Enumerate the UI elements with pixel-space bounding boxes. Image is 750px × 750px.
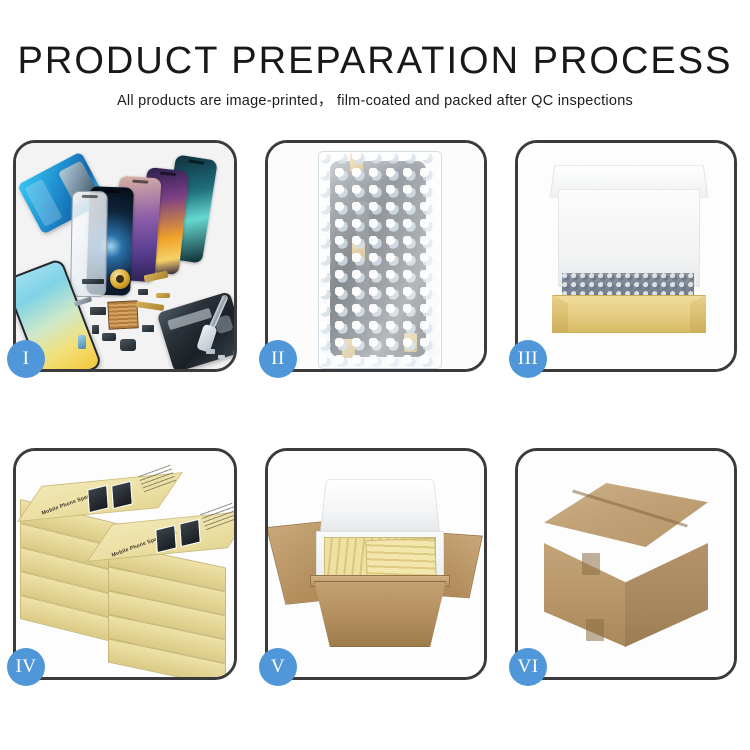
step-panel-bubble-wrap-packing: II [265,140,487,372]
phone-notch [132,180,148,184]
phone-notch [82,195,98,198]
process-step-grid: I II III [0,0,750,750]
step-panel-inner-box-packing: III [515,140,737,372]
step-panel-products-and-parts: I [13,140,237,372]
carton-tape-mark [586,619,604,641]
step-badge-3: III [509,340,547,378]
small-part-chip [92,325,99,334]
box-front-kraft [552,295,706,333]
carton-tape-mark [582,553,600,575]
step-panel-foam-carton-packing: V [265,448,487,680]
inner-boxes-yellow-row2 [365,538,436,580]
step-panel-sealed-carton: VI [515,448,737,680]
flex-cable-part [156,293,170,298]
phone-notch [160,171,176,176]
photo-sealed-carton [518,451,734,677]
photo-bubble-wrap-packing [268,143,484,369]
box-window-back [87,485,109,514]
photo-boxes-stacked: Mobile Phone Spare Parts Mobile Phone Sp… [16,451,234,677]
step-badge-2: II [259,340,297,378]
small-part-chip [138,289,148,295]
photo-foam-carton-packing [268,451,484,677]
foam-lid-open [320,479,440,533]
small-part-chip [90,307,106,315]
small-part-chip [120,339,136,351]
phone-notch [188,159,204,164]
small-part-chip [102,333,116,341]
photo-inner-box-packing [518,143,734,369]
phone-notch [104,190,120,194]
camera-ring-part [110,269,130,289]
box-window-front [155,525,177,554]
step-panel-boxes-stacked: Mobile Phone Spare Parts Mobile Phone Sp… [13,448,237,680]
step-badge-1: I [7,340,45,378]
carton-body [314,581,446,647]
small-screw-part [206,349,215,354]
box-window-back [111,481,133,510]
chip-contact-grid [107,300,138,330]
small-part-chip [78,335,86,349]
step-badge-5: V [259,648,297,686]
photo-products-and-parts [16,143,234,369]
step-badge-4: IV [7,648,45,686]
box-window-front [179,519,201,548]
small-part-chip [142,325,154,332]
small-screw-part [218,355,225,359]
step-badge-6: VI [509,648,547,686]
bubble-wrap-sheen [318,151,442,369]
small-part-chip [82,279,104,284]
